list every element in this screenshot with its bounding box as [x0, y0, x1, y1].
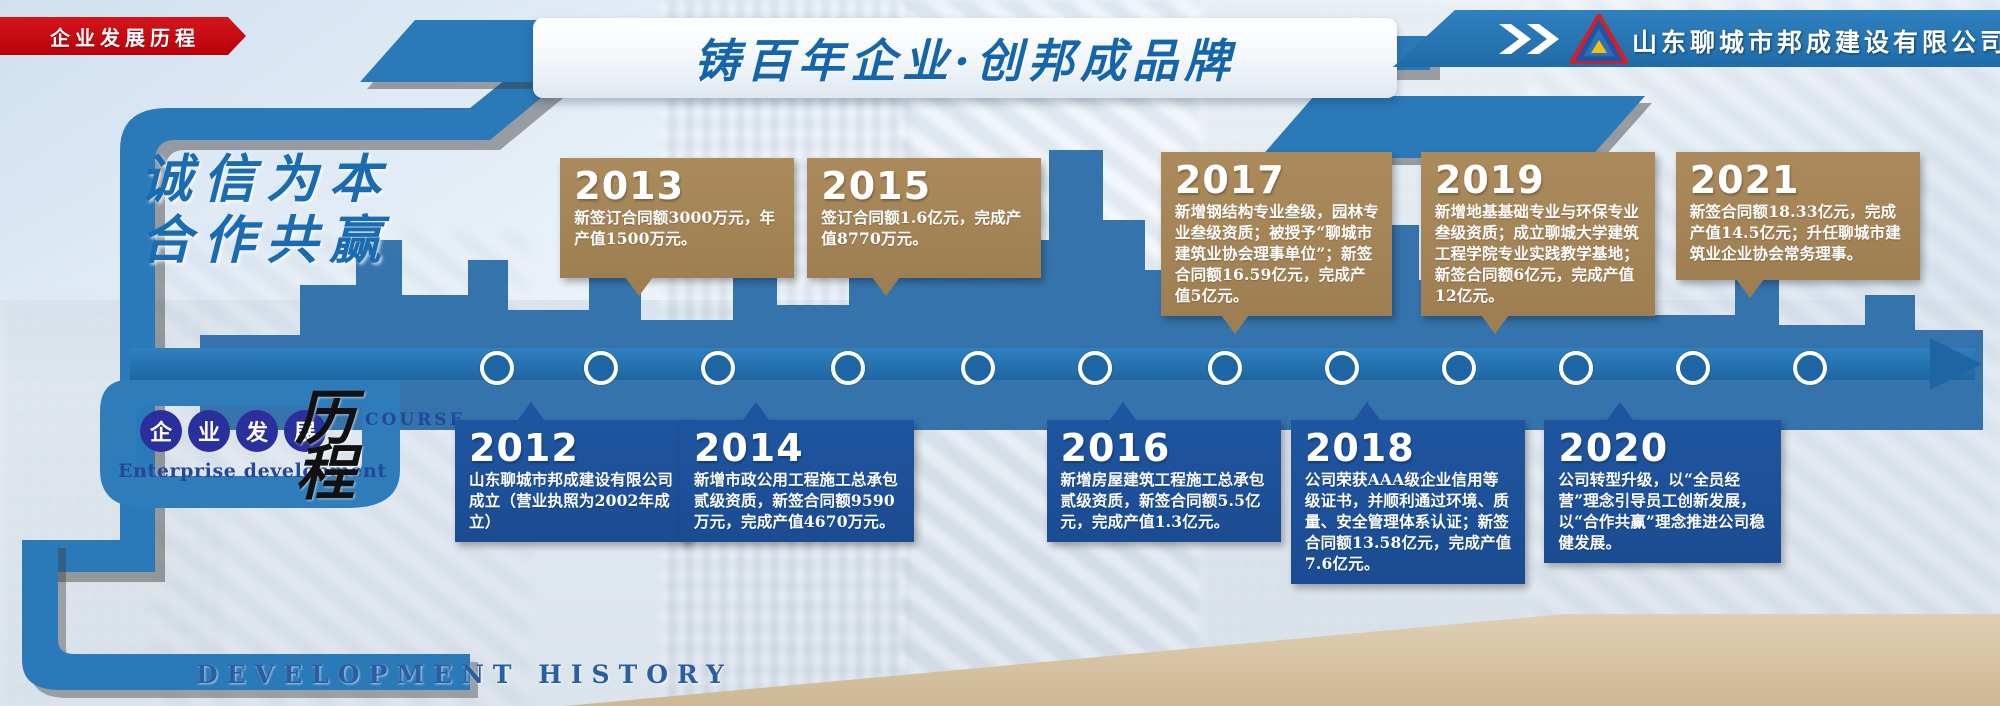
timeline-card-pointer — [1353, 402, 1381, 421]
timeline-card[interactable]: 2014新增市政公用工程施工总承包贰级资质，新签合同额9590万元，完成产值46… — [680, 420, 914, 542]
timeline-node — [1078, 351, 1112, 385]
badge-course-label: COURSE — [365, 410, 466, 430]
timeline-card-year: 2012 — [469, 429, 677, 467]
timeline-card-text: 新增地基基础专业与环保专业叁级资质；成立聊城大学建筑工程学院专业实践教学基地；新… — [1435, 201, 1643, 306]
timeline-node — [831, 351, 865, 385]
timeline-card-text: 新签订合同额3000万元，年产值1500万元。 — [574, 207, 782, 249]
timeline-card[interactable]: 2020公司转型升级，以“全员经营”理念引导员工创新发展，以“合作共赢”理念推进… — [1544, 420, 1781, 563]
timeline-card-year: 2014 — [694, 429, 902, 467]
double-chevron-right-icon — [1497, 22, 1567, 56]
timeline-card-pointer — [872, 277, 900, 296]
corner-banner-label: 企业发展历程 — [46, 22, 200, 51]
timeline-card-year: 2020 — [1558, 429, 1769, 467]
slogan-line-1: 诚信为本 — [140, 150, 392, 211]
timeline-card-text: 山东聊城市邦成建设有限公司成立（营业执照为2002年成立） — [469, 469, 677, 532]
badge-circle: 企 — [140, 410, 182, 452]
timeline-card-pointer — [1736, 279, 1764, 298]
timeline-card-year: 2018 — [1305, 429, 1513, 467]
timeline-node — [584, 351, 618, 385]
timeline-card[interactable]: 2012山东聊城市邦成建设有限公司成立（营业执照为2002年成立） — [455, 420, 689, 542]
corner-banner: 企业发展历程 — [0, 17, 246, 55]
timeline-card-text: 新增房屋建筑工程施工总承包贰级资质，新签合同额5.5亿元，完成产值1.3亿元。 — [1061, 469, 1269, 532]
timeline-card-year: 2021 — [1690, 161, 1908, 199]
slogan-line-2: 合作共赢 — [140, 211, 392, 272]
timeline-card[interactable]: 2015签订合同额1.6亿元，完成产值8770万元。 — [807, 158, 1041, 278]
timeline-node — [1208, 351, 1242, 385]
timeline-node — [1676, 351, 1710, 385]
timeline-node — [1442, 351, 1476, 385]
slogan-block: 诚信为本 合作共赢 — [140, 150, 392, 272]
timeline-card-year: 2017 — [1175, 161, 1380, 199]
timeline-card-year: 2015 — [821, 167, 1029, 205]
timeline-card[interactable]: 2021新签合同额18.33亿元，完成产值14.5亿元；升任聊城市建筑业企业协会… — [1676, 152, 1920, 280]
company-name: 山东聊城市邦成建设有限公司 — [1632, 23, 2000, 59]
timeline-node — [1793, 351, 1827, 385]
timeline-card-text: 新增市政公用工程施工总承包贰级资质，新签合同额9590万元，完成产值4670万元… — [694, 469, 902, 532]
timeline-card-year: 2019 — [1435, 161, 1643, 199]
timeline-card-text: 签订合同额1.6亿元，完成产值8770万元。 — [821, 207, 1029, 249]
badge-circle: 发 — [236, 410, 278, 452]
timeline-card-pointer — [1481, 315, 1509, 334]
footer-development-history: DEVELOPMENT HISTORY — [196, 660, 733, 689]
timeline-card[interactable]: 2016新增房屋建筑工程施工总承包贰级资质，新签合同额5.5亿元，完成产值1.3… — [1047, 420, 1281, 542]
timeline-card-pointer — [517, 402, 545, 421]
timeline-card-year: 2013 — [574, 167, 782, 205]
timeline-card-pointer — [1221, 315, 1249, 334]
timeline-card-pointer — [742, 402, 770, 421]
timeline-card[interactable]: 2019新增地基基础专业与环保专业叁级资质；成立聊城大学建筑工程学院专业实践教学… — [1421, 152, 1655, 316]
timeline-card-pointer — [625, 277, 653, 296]
timeline-card-pointer — [1109, 402, 1137, 421]
badge-circle: 业 — [188, 410, 230, 452]
timeline-card-year: 2016 — [1061, 429, 1269, 467]
timeline-node — [1325, 351, 1359, 385]
badge-calligraphy-line-2: 程 — [295, 447, 355, 502]
timeline-node — [1559, 351, 1593, 385]
timeline-card-text: 新增钢结构专业叁级，园林专业叁级资质；被授予“聊城市建筑业协会理事单位”；新签合… — [1175, 201, 1380, 306]
timeline-card-text: 公司荣获AAA级企业信用等级证书，并顺利通过环境、质量、安全管理体系认证；新签合… — [1305, 469, 1513, 574]
timeline-card-pointer — [1606, 402, 1634, 421]
timeline-node — [961, 351, 995, 385]
timeline-card[interactable]: 2013新签订合同额3000万元，年产值1500万元。 — [560, 158, 794, 278]
badge-calligraphy: 历 程 — [295, 392, 355, 502]
poster-stage: 企业发展历程 铸百年企业·创邦成品牌 山东聊城市邦成建设有限公司 诚信为本 合作… — [0, 0, 2000, 706]
triangle-logo-icon — [1570, 14, 1628, 64]
timeline-card-text: 公司转型升级，以“全员经营”理念引导员工创新发展，以“合作共赢”理念推进公司稳健… — [1558, 469, 1769, 553]
headline-text: 铸百年企业·创邦成品牌 — [533, 18, 1397, 98]
timeline-card[interactable]: 2017新增钢结构专业叁级，园林专业叁级资质；被授予“聊城市建筑业协会理事单位”… — [1161, 152, 1392, 316]
timeline-node — [701, 351, 735, 385]
timeline-card[interactable]: 2018公司荣获AAA级企业信用等级证书，并顺利通过环境、质量、安全管理体系认证… — [1291, 420, 1525, 584]
timeline-card-text: 新签合同额18.33亿元，完成产值14.5亿元；升任聊城市建筑业企业协会常务理事… — [1690, 201, 1908, 264]
timeline-node — [480, 351, 514, 385]
